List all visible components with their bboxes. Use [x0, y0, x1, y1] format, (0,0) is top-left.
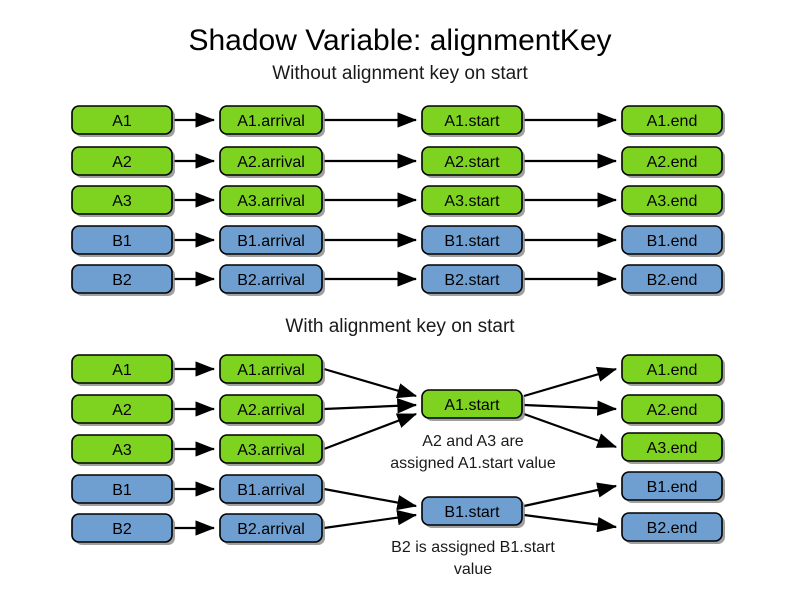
node2-b1-end[interactable]: B1.end: [622, 472, 725, 503]
node-a2-start-label: A2.start: [444, 154, 500, 171]
node-b2-end[interactable]: B2.end: [622, 265, 725, 296]
node-b1-end[interactable]: B1.end: [622, 226, 725, 257]
node2-a3-arrival-label: A3.arrival: [237, 442, 305, 459]
node-a1-label: A1: [112, 113, 132, 130]
node-b2[interactable]: B2: [72, 265, 175, 296]
node2-b2-end[interactable]: B2.end: [622, 513, 725, 544]
node2-b1-arrival-label: B1.arrival: [237, 482, 305, 499]
page-title: Shadow Variable: alignmentKey: [188, 24, 611, 57]
node2-b2-label: B2: [112, 521, 132, 538]
node2-a2-arrival-label: A2.arrival: [237, 402, 305, 419]
node2-a3-end[interactable]: A3.end: [622, 433, 725, 464]
section-heading-with: With alignment key on start: [285, 316, 515, 337]
node-b1-start[interactable]: B1.start: [422, 226, 525, 257]
edge2-a1-start-to-a1-end: [524, 369, 616, 396]
section-heading-without: Without alignment key on start: [272, 63, 528, 84]
node-a1-arrival-label: A1.arrival: [237, 113, 305, 130]
edge2-a1-arrival-to-a1-start: [324, 369, 416, 396]
node2-b1-start[interactable]: B1.start: [422, 497, 525, 528]
shadow-variable-diagram: Shadow Variable: alignmentKey Without al…: [0, 0, 800, 600]
node2-a3-arrival[interactable]: A3.arrival: [220, 435, 325, 466]
node-b2-start[interactable]: B2.start: [422, 265, 525, 296]
node2-a3[interactable]: A3: [72, 435, 175, 466]
node-a3-arrival-label: A3.arrival: [237, 193, 305, 210]
slide-canvas: Shadow Variable: alignmentKey Without al…: [0, 0, 800, 600]
node2-a1-start-label: A1.start: [444, 397, 500, 414]
node-a2-arrival[interactable]: A2.arrival: [220, 147, 325, 178]
node-a3-start-label: A3.start: [444, 193, 500, 210]
node2-a2-end-label: A2.end: [647, 402, 698, 419]
node2-a1[interactable]: A1: [72, 355, 175, 386]
node2-b1[interactable]: B1: [72, 475, 175, 506]
edge2-a3-arrival-to-a1-start: [324, 414, 416, 449]
node-a2-end-label: A2.end: [647, 154, 698, 171]
node-a2-start[interactable]: A2.start: [422, 147, 525, 178]
node2-a1-start[interactable]: A1.start: [422, 390, 525, 421]
edge2-b1-arrival-to-b1-start: [324, 489, 416, 506]
node-a3-end[interactable]: A3.end: [622, 186, 725, 217]
caption-b-line-2: value: [454, 561, 492, 578]
node2-b1-start-label: B1.start: [444, 504, 500, 521]
node2-a3-end-label: A3.end: [647, 440, 698, 457]
node-b1[interactable]: B1: [72, 226, 175, 257]
node-a1[interactable]: A1: [72, 106, 175, 137]
node-a3-start[interactable]: A3.start: [422, 186, 525, 217]
edge2-b1-start-to-b1-end: [524, 486, 616, 506]
node-a3-arrival[interactable]: A3.arrival: [220, 186, 325, 217]
edge2-a1-start-to-a3-end: [524, 414, 616, 447]
node-a1-start-label: A1.start: [444, 113, 500, 130]
edge2-b1-start-to-b2-end: [524, 515, 616, 527]
node2-a1-arrival-label: A1.arrival: [237, 362, 305, 379]
node-b2-arrival[interactable]: B2.arrival: [220, 265, 325, 296]
node-a2-end[interactable]: A2.end: [622, 147, 725, 178]
node-b1-arrival[interactable]: B1.arrival: [220, 226, 325, 257]
node-a1-end-label: A1.end: [647, 113, 698, 130]
node-a3-label: A3: [112, 193, 132, 210]
node-a1-arrival[interactable]: A1.arrival: [220, 106, 325, 137]
node2-b1-arrival[interactable]: B1.arrival: [220, 475, 325, 506]
caption-a-line-2: assigned A1.start value: [390, 455, 556, 472]
node2-a2[interactable]: A2: [72, 395, 175, 426]
node2-a1-arrival[interactable]: A1.arrival: [220, 355, 325, 386]
node2-a1-end[interactable]: A1.end: [622, 355, 725, 386]
node2-a2-arrival[interactable]: A2.arrival: [220, 395, 325, 426]
node2-b2[interactable]: B2: [72, 514, 175, 545]
node-a2-label: A2: [112, 154, 132, 171]
node-b1-label: B1: [112, 233, 132, 250]
node-b2-arrival-label: B2.arrival: [237, 272, 305, 289]
node2-a3-label: A3: [112, 442, 132, 459]
node-b1-arrival-label: B1.arrival: [237, 233, 305, 250]
node-a2-arrival-label: A2.arrival: [237, 154, 305, 171]
node-a3[interactable]: A3: [72, 186, 175, 217]
node-b1-end-label: B1.end: [647, 233, 698, 250]
edge2-b2-arrival-to-b1-start: [324, 515, 416, 528]
edge2-a1-start-to-a2-end: [524, 405, 616, 409]
node-b2-start-label: B2.start: [444, 272, 500, 289]
node2-b1-label: B1: [112, 482, 132, 499]
node-a1-end[interactable]: A1.end: [622, 106, 725, 137]
node-a1-start[interactable]: A1.start: [422, 106, 525, 137]
node-a2[interactable]: A2: [72, 147, 175, 178]
node2-a1-label: A1: [112, 362, 132, 379]
node2-a2-label: A2: [112, 402, 132, 419]
node-a3-end-label: A3.end: [647, 193, 698, 210]
node-b1-start-label: B1.start: [444, 233, 500, 250]
node2-a1-end-label: A1.end: [647, 362, 698, 379]
caption-a-line-1: A2 and A3 are: [422, 433, 524, 450]
edge2-a2-arrival-to-a1-start: [324, 405, 416, 409]
node2-a2-end[interactable]: A2.end: [622, 395, 725, 426]
node2-b2-arrival[interactable]: B2.arrival: [220, 514, 325, 545]
node2-b2-arrival-label: B2.arrival: [237, 521, 305, 538]
caption-b-line-1: B2 is assigned B1.start: [391, 539, 555, 556]
node-b2-label: B2: [112, 272, 132, 289]
node2-b1-end-label: B1.end: [647, 479, 698, 496]
node2-b2-end-label: B2.end: [647, 520, 698, 537]
node-b2-end-label: B2.end: [647, 272, 698, 289]
